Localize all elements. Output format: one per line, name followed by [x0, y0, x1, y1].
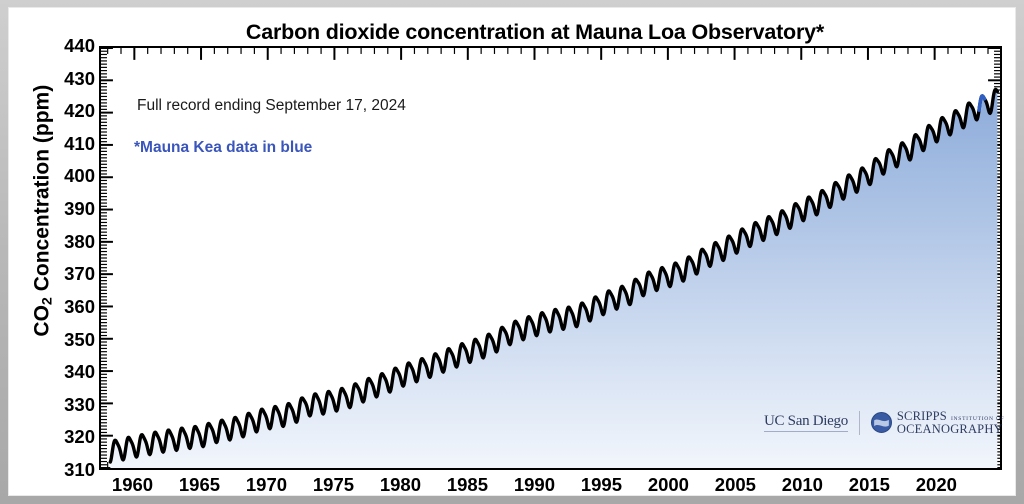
scripps-word: SCRIPPS: [897, 410, 947, 423]
y-axis-tick-label: 360: [39, 298, 95, 317]
mauna-kea-note: *Mauna Kea data in blue: [134, 139, 312, 157]
scripps-wordmark: SCRIPPS INSTITUTION OF OCEANOGRAPHY: [897, 410, 1005, 435]
y-axis-tick-label: 320: [39, 428, 95, 447]
y-axis-tick-label: 340: [39, 363, 95, 382]
logo-group: UC San Diego SCRIPPS INSTITUTION OF OCEA…: [764, 410, 1004, 435]
page-title: Carbon dioxide concentration at Mauna Lo…: [105, 20, 965, 45]
chart-canvas: Carbon dioxide concentration at Mauna Lo…: [8, 7, 1016, 496]
y-axis-tick-label: 370: [39, 265, 95, 284]
image-frame: Carbon dioxide concentration at Mauna Lo…: [0, 0, 1024, 504]
y-axis-tick-label: 420: [39, 102, 95, 121]
y-axis-tick-labels: 4404304204104003903803703603503403303203…: [33, 8, 95, 496]
full-record-note: Full record ending September 17, 2024: [137, 97, 406, 115]
uc-san-diego-logo: UC San Diego: [764, 413, 848, 432]
x-axis-tick-labels: 1960196519701975198019851990199520002005…: [99, 476, 1002, 496]
y-axis-tick-label: 380: [39, 233, 95, 252]
y-axis-tick-label: 440: [39, 37, 95, 56]
globe-icon: [871, 412, 892, 433]
scripps-logo: SCRIPPS INSTITUTION OF OCEANOGRAPHY: [871, 410, 1005, 435]
y-axis-tick-label: 390: [39, 200, 95, 219]
y-axis-tick-label: 350: [39, 331, 95, 350]
x-axis-tick-label: 2020: [891, 476, 981, 495]
y-axis-tick-label: 330: [39, 396, 95, 415]
y-axis-tick-label: 410: [39, 135, 95, 154]
scripps-line-2: OCEANOGRAPHY: [897, 423, 1005, 436]
logo-divider: [859, 411, 860, 435]
scripps-line-1: SCRIPPS INSTITUTION OF: [897, 410, 1005, 423]
y-axis-tick-label: 400: [39, 167, 95, 186]
y-axis-tick-label: 430: [39, 70, 95, 89]
